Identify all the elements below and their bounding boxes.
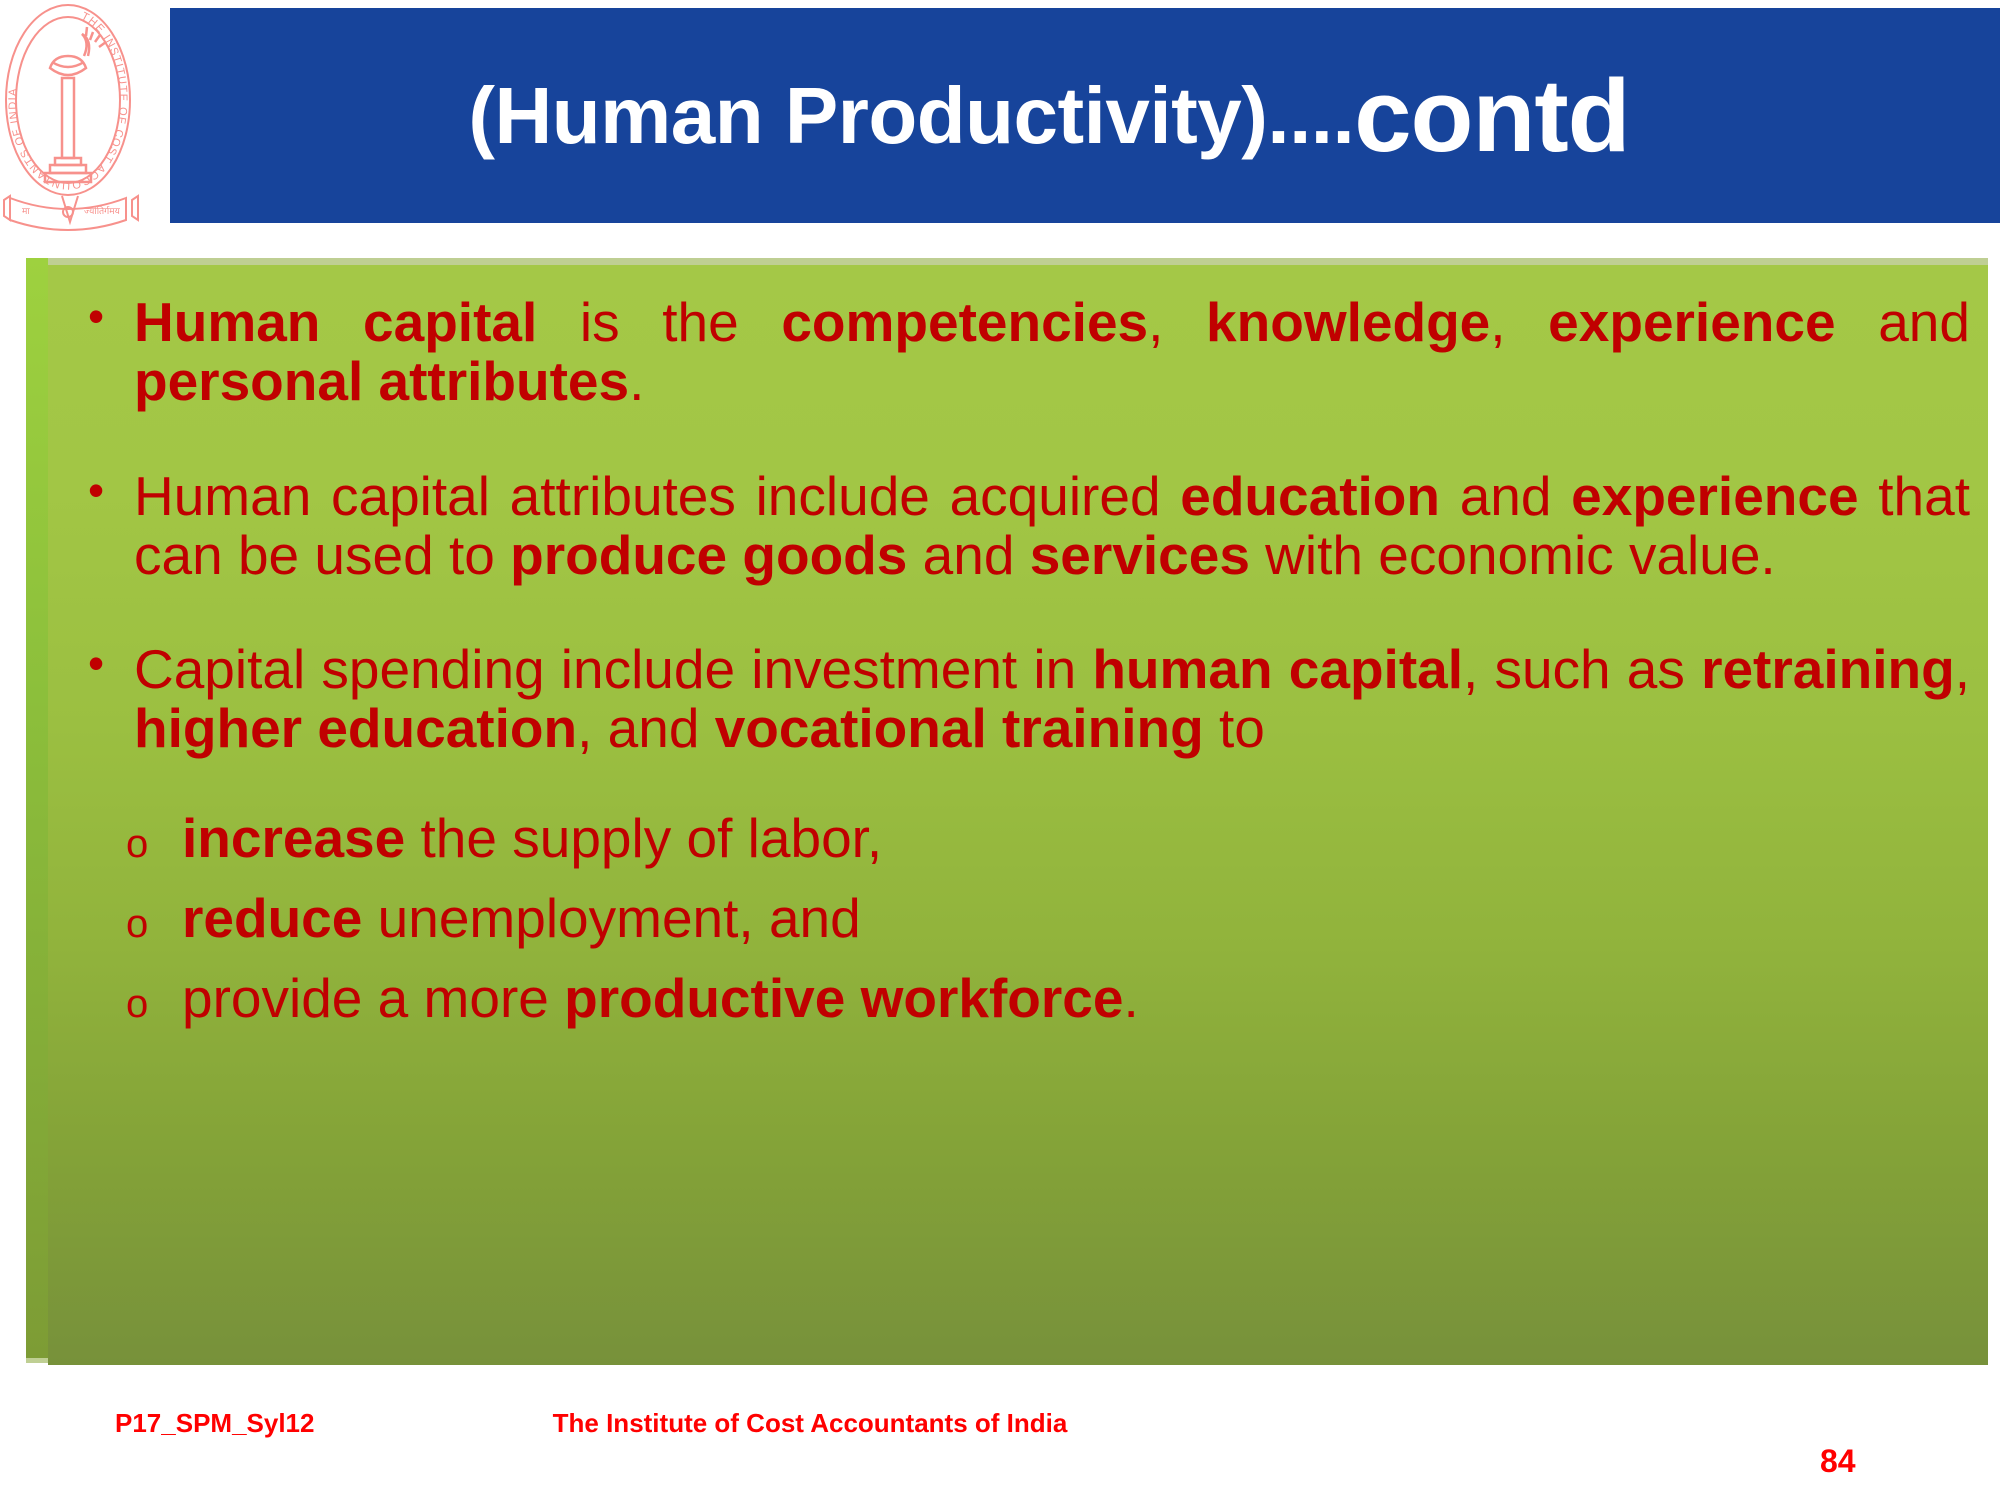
footer-bar	[0, 1378, 2000, 1500]
sub-bullet-item: o reduce unemployment, and	[126, 890, 1970, 948]
sub-bullet-text: reduce unemployment, and	[182, 890, 1970, 948]
footer-institute-name: The Institute of Cost Accountants of Ind…	[0, 1408, 2000, 1439]
bullet-item: • Capital spending include investment in…	[66, 640, 1970, 758]
svg-text:ज्योतिर्गमय: ज्योतिर्गमय	[84, 205, 121, 216]
bullet-marker: •	[66, 467, 134, 513]
content-accent-stripe	[26, 258, 48, 1358]
bullet-item: • Human capital attributes include acqui…	[66, 467, 1970, 585]
bullet-text: Human capital attributes include acquire…	[134, 467, 1970, 585]
page-title: (Human Productivity) .... contd	[168, 8, 1930, 223]
sub-bullet-text: increase the supply of labor,	[182, 810, 1970, 868]
sub-bullet-list: o increase the supply of labor, o reduce…	[66, 810, 1970, 1027]
sub-bullet-text: provide a more productive workforce.	[182, 970, 1970, 1028]
page-title-contd: contd	[1354, 64, 1629, 167]
svg-text:मा: मा	[22, 206, 30, 216]
bullet-text: Capital spending include investment in h…	[134, 640, 1970, 758]
sub-bullet-item: o increase the supply of labor,	[126, 810, 1970, 868]
sub-bullet-marker: o	[126, 984, 182, 1024]
sub-bullet-item: o provide a more productive workforce.	[126, 970, 1970, 1028]
bullet-text: Human capital is the competencies, knowl…	[134, 293, 1970, 411]
bullet-item: • Human capital is the competencies, kno…	[66, 293, 1970, 411]
institute-seal-icon: THE INSTITUTE OF COST ACCOUNTANTS OF IND…	[0, 0, 170, 240]
bullet-marker: •	[66, 640, 134, 686]
page-title-dots: ....	[1267, 76, 1354, 156]
sub-bullet-marker: o	[126, 824, 182, 864]
page-title-main: (Human Productivity)	[468, 76, 1267, 156]
content-panel: • Human capital is the competencies, kno…	[48, 265, 1988, 1365]
bullet-marker: •	[66, 293, 134, 339]
slide-canvas: (Human Productivity) .... contd	[0, 0, 2000, 1500]
footer-page-number: 84	[1820, 1443, 1856, 1480]
sub-bullet-marker: o	[126, 904, 182, 944]
